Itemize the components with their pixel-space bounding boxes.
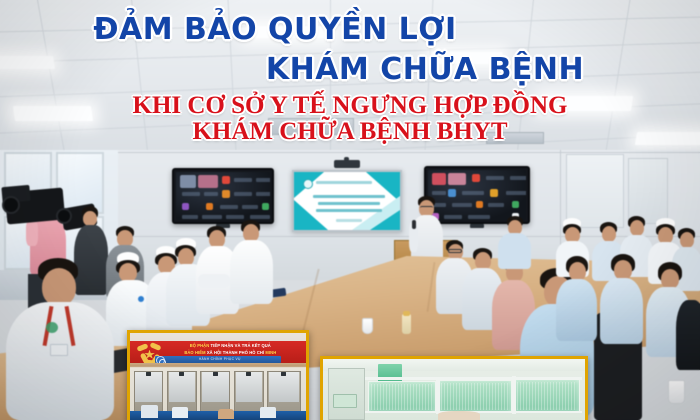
bottle: [402, 314, 411, 334]
ceiling: [0, 0, 700, 170]
ceiling-light: [0, 56, 55, 69]
wall-control-box: [333, 394, 357, 407]
glass-partition: [438, 380, 511, 413]
inset-banner-line3: HÀNH CHÍNH PHỤC VỤ: [169, 357, 271, 361]
attendee: [498, 216, 532, 268]
eyeglasses: [448, 249, 462, 253]
inset-banner-line2-bold2: MINH: [265, 350, 276, 355]
ceiling-light: [13, 106, 93, 121]
attendee: [676, 300, 700, 380]
paper-cup: [668, 380, 685, 404]
inset-banner-line1: BỘ PHẬN TIẾP NHẬN VÀ TRẢ KẾT QUẢ: [176, 343, 285, 348]
promotional-banner-image: BỘ PHẬN TIẾP NHẬN VÀ TRẢ KẾT QUẢ BẢO HIỂ…: [0, 0, 700, 420]
camera-lens: [2, 196, 20, 214]
ceiling-light: [246, 26, 332, 38]
inset-banner-line1-bold: BỘ PHẬN: [190, 343, 210, 348]
inset-photo-green-glass-hall: [320, 356, 588, 420]
display-screen-left: [172, 168, 274, 224]
attendee: [556, 256, 598, 342]
id-badge: [50, 344, 68, 356]
ceiling-grid: [0, 0, 700, 170]
inset-banner-line2-bold: BẢO HIỂM: [184, 350, 205, 355]
inset-service-counter: [130, 363, 306, 420]
ceiling-light: [635, 132, 700, 145]
ceiling-vent: [486, 132, 544, 144]
ceiling-vent: [268, 118, 354, 135]
attendee-foreground: [6, 258, 118, 420]
camera-lens: [56, 208, 72, 224]
attendee-doctor: [230, 220, 274, 312]
projector-mount: [344, 157, 349, 161]
slide-logo: [303, 179, 313, 189]
glass-partition: [368, 381, 436, 413]
inset-banner-line1-plain: TIẾP NHẬN VÀ TRẢ KẾT QUẢ: [211, 343, 271, 348]
inset-photo-bhxh-reception: BỘ PHẬN TIẾP NHẬN VÀ TRẢ KẾT QUẢ BẢO HIỂ…: [127, 330, 309, 420]
presentation-slide: [292, 170, 402, 232]
paper-cup: [362, 318, 373, 334]
attendee: [600, 254, 644, 346]
display-screen-left-content: [176, 172, 270, 220]
inset-banner-line2-plain: XÃ HỘI THÀNH PHỐ HỒ CHÍ: [207, 350, 266, 355]
ceiling-light: [539, 96, 633, 111]
projector-mount: [334, 160, 360, 168]
inset-banner-line2: BẢO HIỂM XÃ HỘI THÀNH PHỐ HỒ CHÍ MINH: [176, 350, 285, 355]
ceiling-light: [432, 52, 503, 64]
glass-partition: [514, 379, 580, 413]
